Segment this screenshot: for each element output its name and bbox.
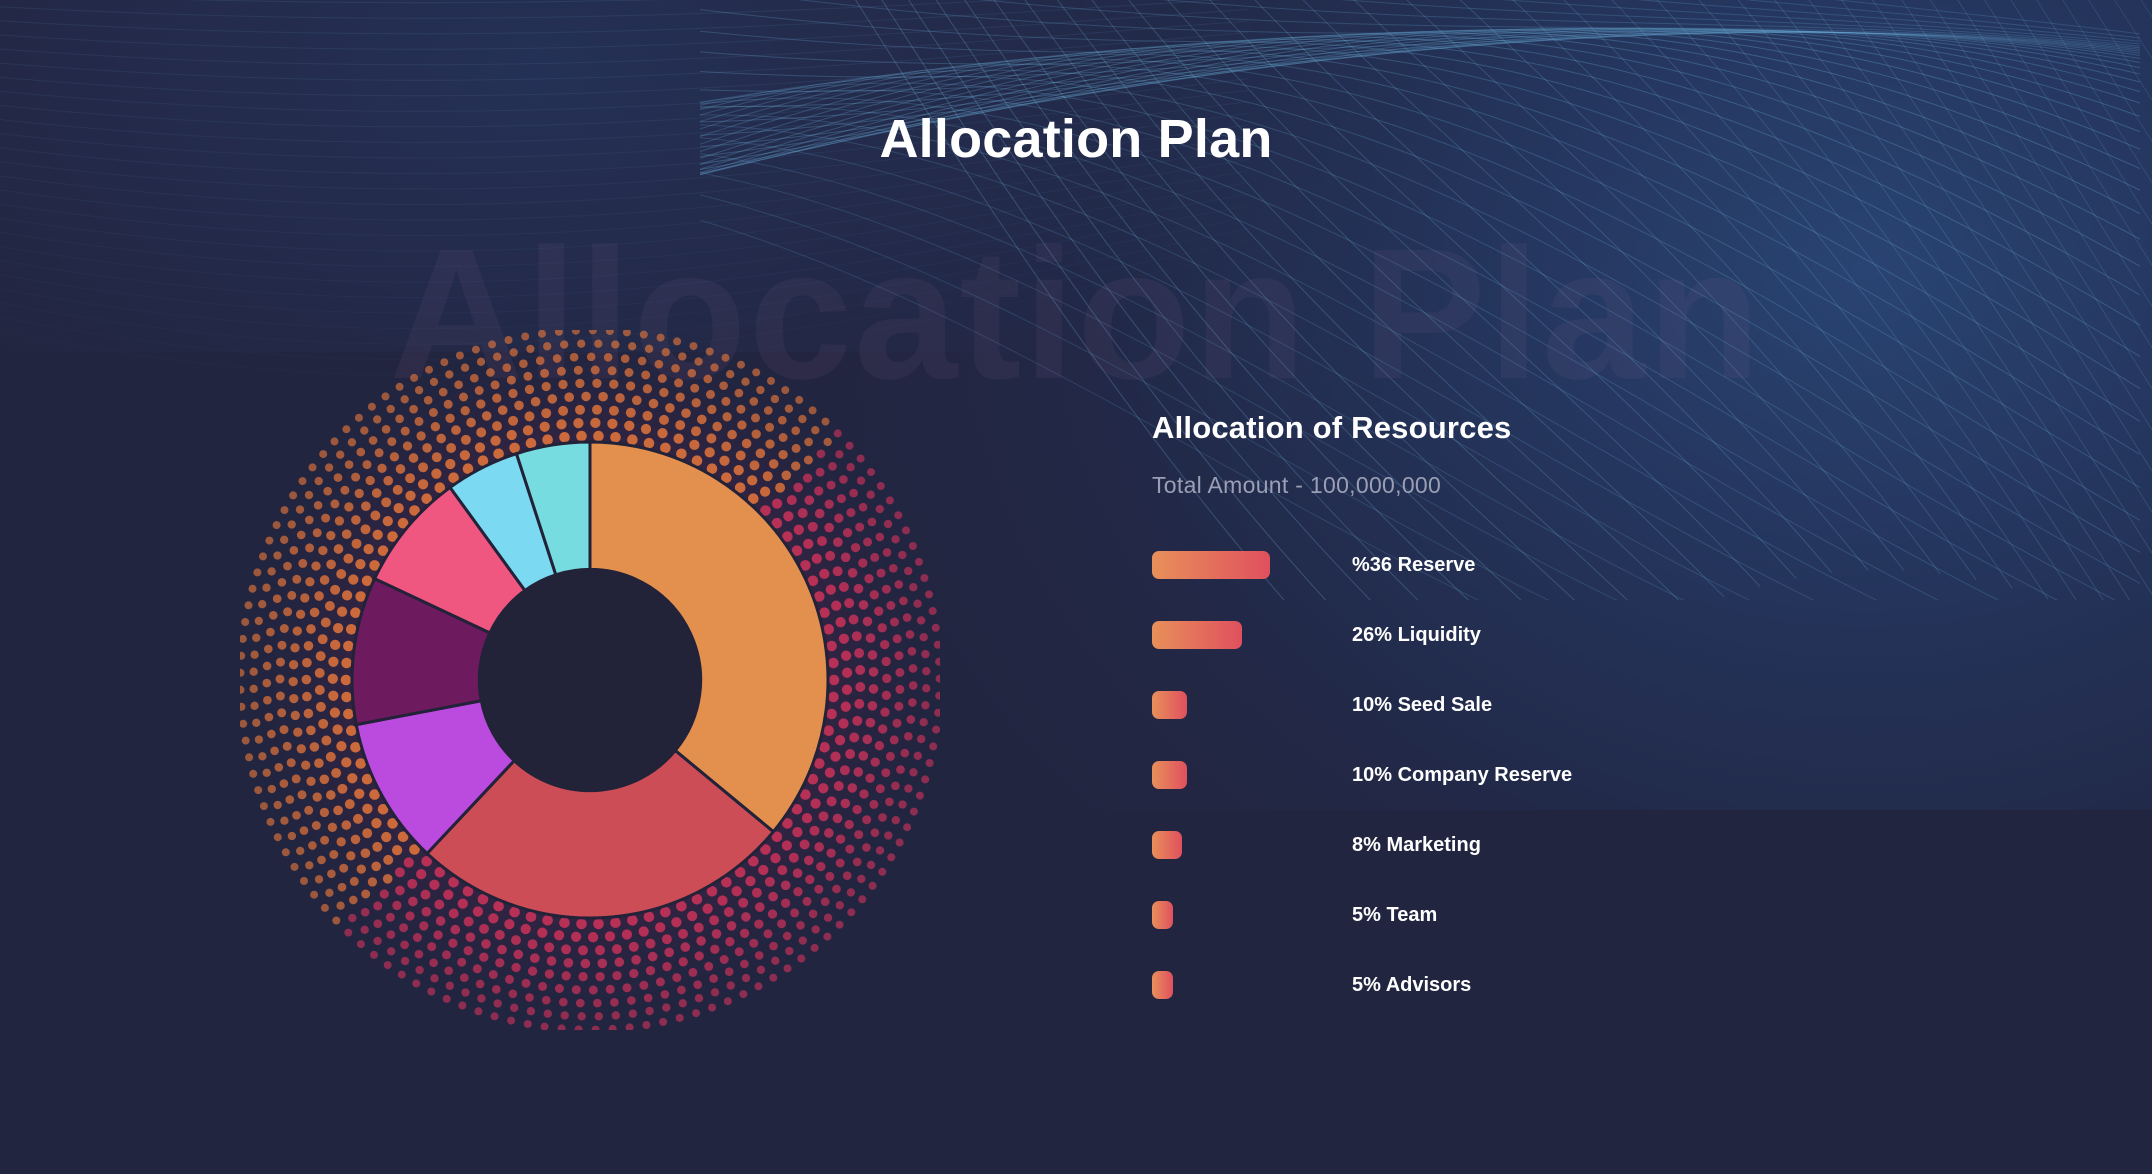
- page-title: Allocation Plan: [0, 108, 2152, 170]
- legend-swatch: [1152, 761, 1187, 789]
- legend-item-label: 10% Company Reserve: [1352, 764, 1572, 787]
- legend-item-label: %36 Reserve: [1352, 554, 1475, 577]
- legend-item-label: 8% Marketing: [1352, 834, 1481, 857]
- legend-swatch: [1152, 691, 1187, 719]
- legend-item-label: 5% Team: [1352, 904, 1437, 927]
- legend-item[interactable]: 10% Seed Sale: [1152, 691, 2052, 719]
- legend-item[interactable]: 10% Company Reserve: [1152, 761, 2052, 789]
- legend-swatch: [1152, 551, 1270, 579]
- legend-swatch: [1152, 971, 1173, 999]
- legend-item-label: 5% Advisors: [1352, 974, 1471, 997]
- donut-center: [479, 569, 700, 790]
- legend-item[interactable]: %36 Reserve: [1152, 551, 2052, 579]
- panel-subtitle: Total Amount - 100,000,000: [1152, 472, 2052, 499]
- allocation-panel: Allocation of Resources Total Amount - 1…: [1152, 410, 2052, 999]
- panel-title: Allocation of Resources: [1152, 410, 2052, 446]
- legend-swatch: [1152, 831, 1182, 859]
- legend-item-label: 26% Liquidity: [1352, 624, 1481, 647]
- donut-chart-svg: [240, 330, 940, 1030]
- legend-swatch: [1152, 621, 1242, 649]
- donut-chart: [240, 330, 940, 1030]
- legend-list: %36 Reserve26% Liquidity10% Seed Sale10%…: [1152, 551, 2052, 999]
- legend-item-label: 10% Seed Sale: [1352, 694, 1492, 717]
- legend-item[interactable]: 5% Advisors: [1152, 971, 2052, 999]
- legend-item[interactable]: 5% Team: [1152, 901, 2052, 929]
- slide-canvas: Allocation Plan Allocation Plan Allocati…: [0, 0, 2152, 1174]
- legend-item[interactable]: 26% Liquidity: [1152, 621, 2052, 649]
- legend-swatch: [1152, 901, 1173, 929]
- legend-item[interactable]: 8% Marketing: [1152, 831, 2052, 859]
